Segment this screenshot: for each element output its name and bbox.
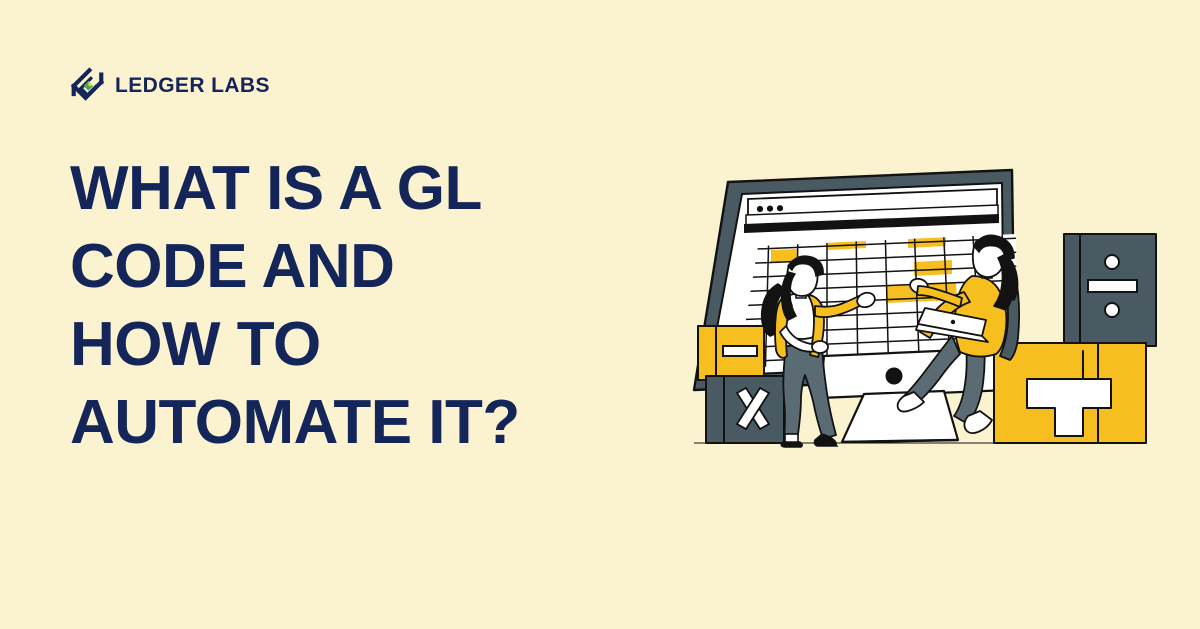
standing-woman-hand-left <box>812 341 828 353</box>
page-title: WHAT IS A GL CODE AND HOW TO AUTOMATE IT… <box>70 150 670 462</box>
hero-illustration <box>676 158 1180 474</box>
headline-line-2: CODE AND <box>70 228 670 306</box>
plus-box <box>994 343 1146 443</box>
nested-diamond-logo-icon <box>68 66 106 104</box>
headline-line-3: HOW TO <box>70 306 670 384</box>
monitor-logo-dot <box>886 368 903 385</box>
standing-woman-shoe-left <box>781 442 802 447</box>
minus-symbol-icon <box>723 346 757 356</box>
headline-line-4: AUTOMATE IT? <box>70 384 670 462</box>
divide-box <box>1064 234 1156 346</box>
window-dots <box>757 205 783 212</box>
blog-banner: LEDGER LABS WHAT IS A GL CODE AND HOW TO… <box>0 0 1200 629</box>
brand-logo[interactable]: LEDGER LABS <box>68 66 270 104</box>
headline-line-1: WHAT IS A GL <box>70 150 670 228</box>
multiply-box <box>706 376 784 443</box>
brand-name: LEDGER LABS <box>115 75 270 96</box>
minus-box <box>698 326 764 380</box>
